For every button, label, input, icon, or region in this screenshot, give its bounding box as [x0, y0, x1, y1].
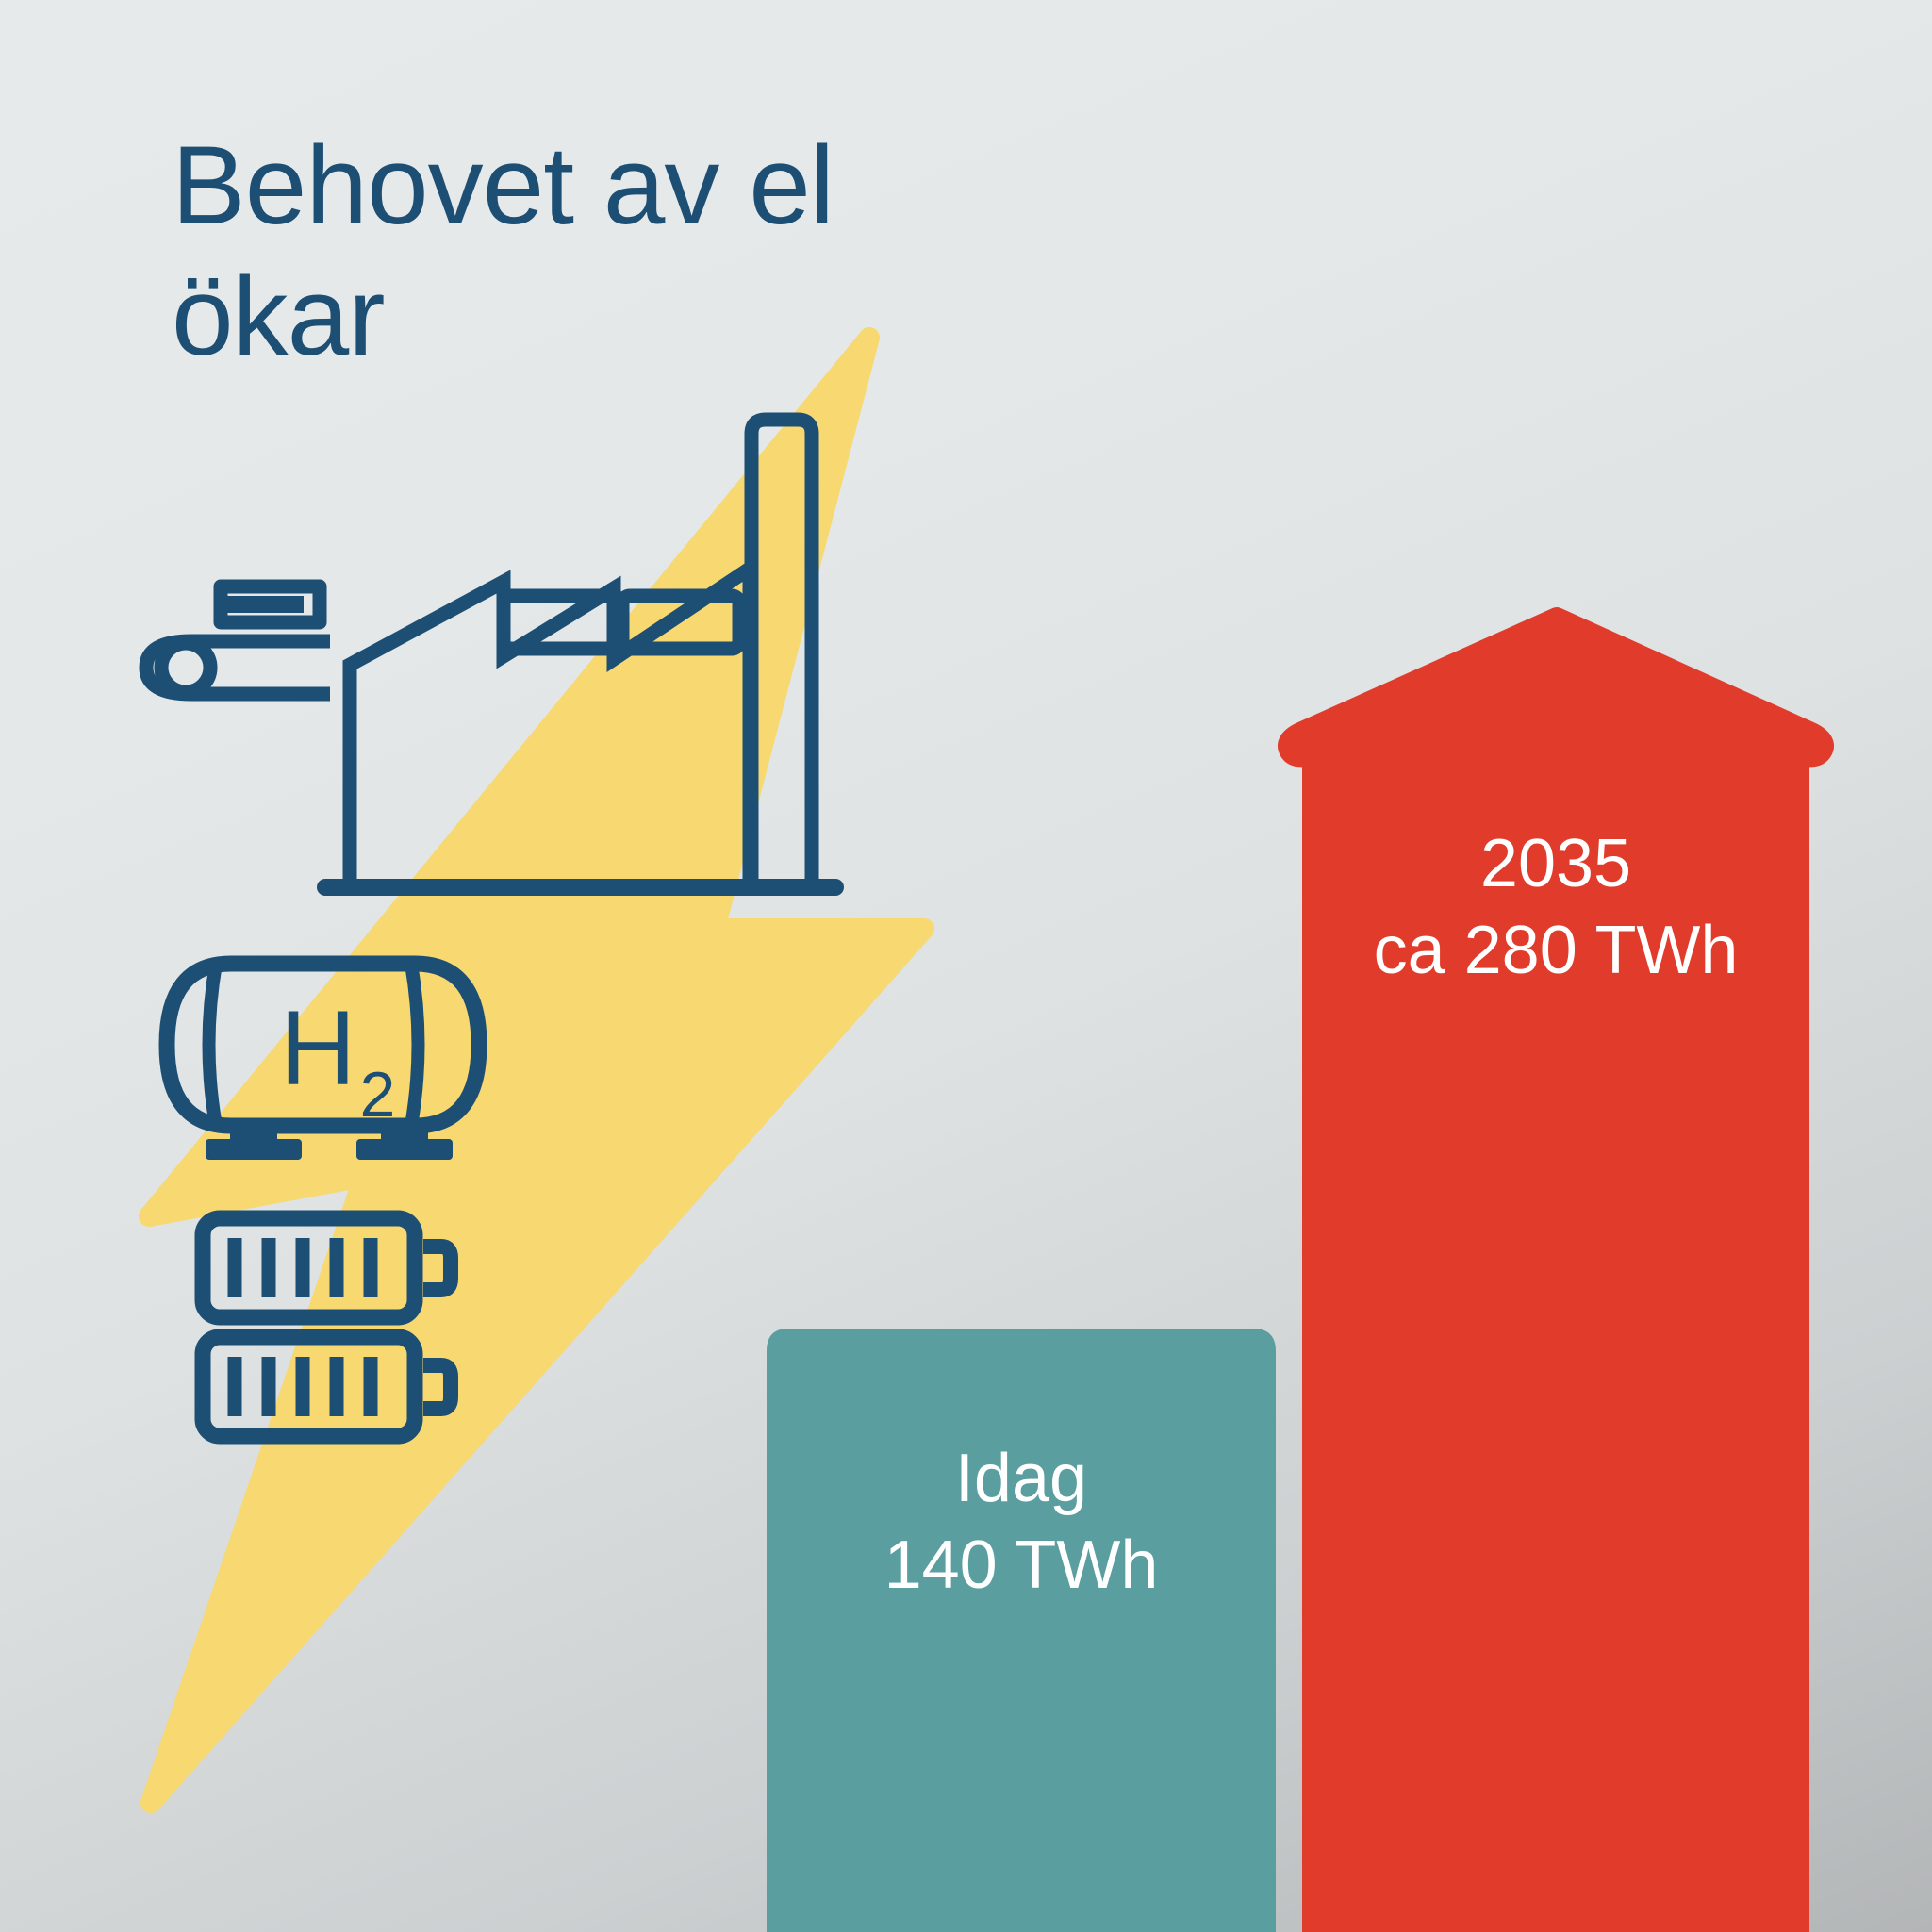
bar-today[interactable]: [767, 1329, 1276, 1932]
bar-2035[interactable]: [1288, 618, 1824, 1932]
infographic-canvas: Behovet av el ökar: [0, 0, 1932, 1932]
bar-today-label: Idag 140 TWh: [767, 1435, 1276, 1609]
bar-2035-label: 2035 ca 280 TWh: [1313, 820, 1799, 994]
